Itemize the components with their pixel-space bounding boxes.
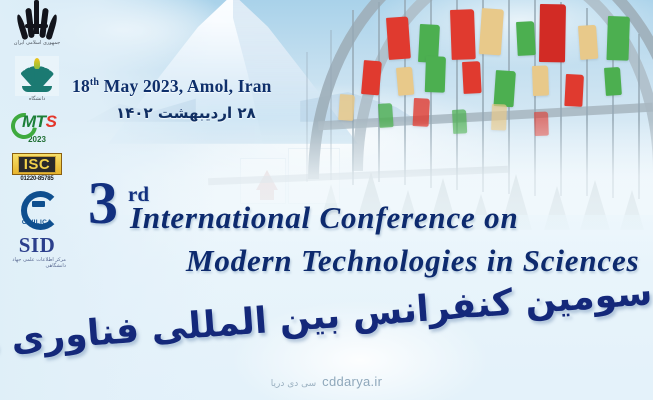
sid-logo[interactable]: SID مرکز اطلاعات علمی جهاد دانشگاهی xyxy=(8,235,66,269)
iran-emblem-icon xyxy=(17,4,57,40)
sid-text: SID xyxy=(19,235,56,256)
iran-national-emblem-logo[interactable]: جمهوری اسلامی ایران xyxy=(8,4,66,47)
iran-emblem-caption: جمهوری اسلامی ایران xyxy=(14,41,60,47)
university-logo[interactable]: دانشگاه xyxy=(8,56,66,103)
date-rest: May 2023, Amol, Iran xyxy=(99,76,271,96)
mts-letter-t: T xyxy=(36,112,46,131)
event-date-english: 18th May 2023, Amol, Iran xyxy=(72,76,272,97)
civilica-logo[interactable]: CIVILICA xyxy=(8,191,66,226)
sponsor-logo-rail: جمهوری اسلامی ایران دانشگاه MTS xyxy=(6,4,68,396)
mts-letter-s: S xyxy=(46,112,57,131)
date-ordinal: th xyxy=(90,77,99,88)
isc-logo[interactable]: ISC 01220-85785 xyxy=(8,153,66,183)
event-date-persian: ۲۸ اردیبهشت ۱۴۰۲ xyxy=(116,104,256,122)
university-fan-icon xyxy=(15,56,59,96)
watermark-domain: cddarya.ir xyxy=(322,374,382,389)
conference-title-line1: International Conference on xyxy=(130,200,518,236)
edition-number: 3 xyxy=(88,176,118,230)
isc-icon: ISC xyxy=(12,153,62,176)
university-caption: دانشگاه xyxy=(29,97,45,103)
conference-poster: جمهوری اسلامی ایران دانشگاه MTS xyxy=(0,0,653,400)
mts-icon: MTS xyxy=(11,112,63,136)
watermark: سی دی دریاcddarya.ir xyxy=(0,374,653,389)
watermark-persian: سی دی دریا xyxy=(271,379,316,389)
mts-logo[interactable]: MTS 2023 xyxy=(8,112,66,144)
isc-text: ISC xyxy=(18,156,57,174)
conference-title-line2: Modern Technologies in Sciences xyxy=(186,243,639,279)
date-day: 18 xyxy=(72,76,90,96)
civilica-icon xyxy=(17,191,57,219)
isc-code: 01220-85785 xyxy=(20,176,53,182)
mts-letter-m: M xyxy=(22,112,36,131)
sid-caption: مرکز اطلاعات علمی جهاد دانشگاهی xyxy=(8,257,66,269)
